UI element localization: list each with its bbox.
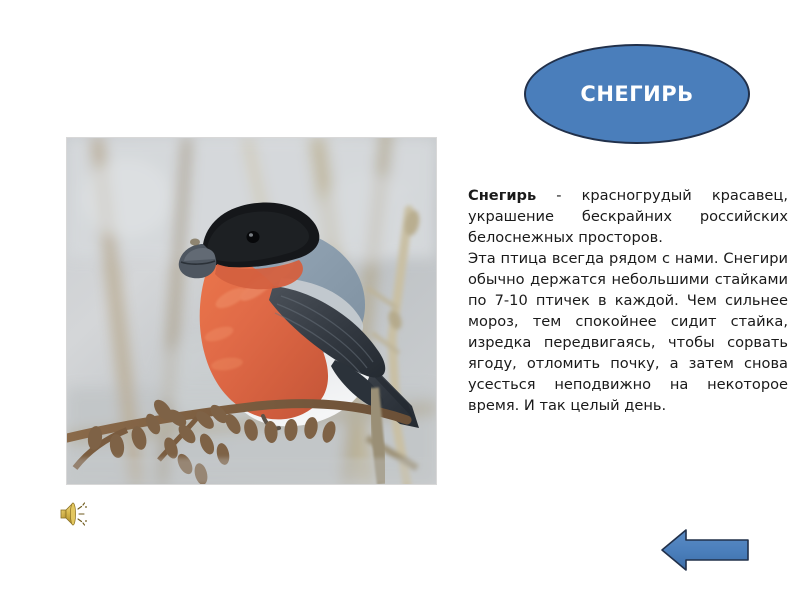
arrow-left-icon-glyph — [660, 526, 750, 574]
bullfinch-illustration — [67, 138, 436, 484]
slide-title-text: СНЕГИРЬ — [580, 82, 693, 106]
speaker-icon-glyph — [59, 499, 95, 529]
bird-eye — [247, 231, 260, 243]
speaker-icon[interactable] — [59, 499, 95, 529]
lead-word: Снегирь — [468, 187, 536, 204]
body-text-block: Снегирь - красногрудый красавец, украшен… — [468, 185, 788, 416]
arrow-left-icon[interactable] — [660, 526, 750, 574]
paragraph-2: Эта птица всегда рядом с нами. Снегири о… — [468, 248, 788, 416]
bird-photograph — [66, 137, 437, 485]
slide-title-ellipse: СНЕГИРЬ — [524, 44, 750, 144]
paragraph-1: Снегирь - красногрудый красавец, украшен… — [468, 185, 788, 248]
